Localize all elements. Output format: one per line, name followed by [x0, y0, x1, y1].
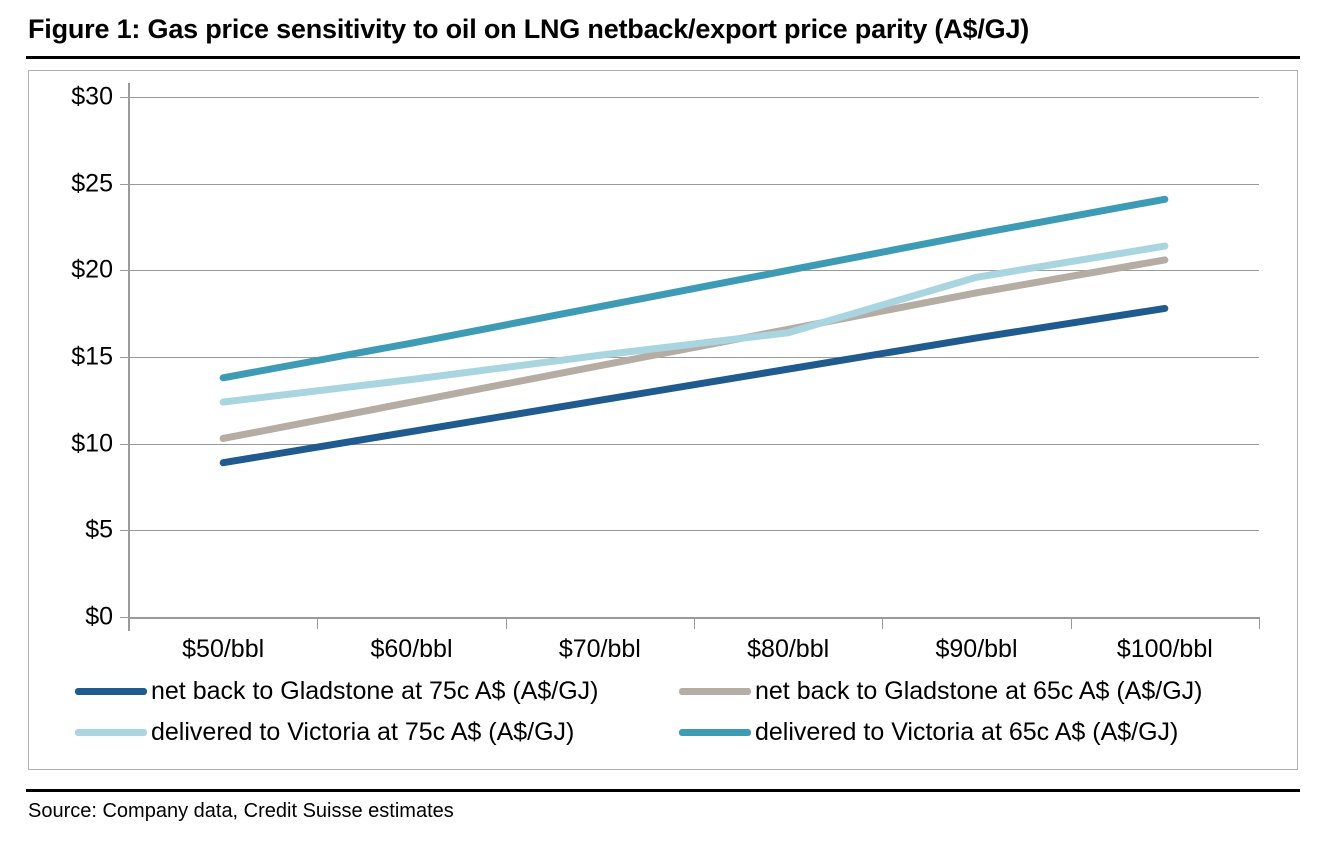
- legend-color-swatch: [679, 688, 751, 695]
- x-axis-tick-label: $90/bbl: [935, 635, 1017, 664]
- source-divider: [26, 789, 1300, 792]
- series-line: [223, 246, 1165, 402]
- legend-color-swatch: [75, 688, 147, 695]
- chart-frame: $30$25$20$15$10$5$0 $50/bbl$60/bbl$70/bb…: [28, 70, 1298, 770]
- x-axis-tick-label: $100/bbl: [1117, 635, 1213, 664]
- x-axis-tick-label: $80/bbl: [747, 635, 829, 664]
- x-axis-tick: [317, 617, 318, 629]
- x-axis-tick-label: $60/bbl: [370, 635, 452, 664]
- source-note: Source: Company data, Credit Suisse esti…: [28, 800, 454, 823]
- legend-color-swatch: [75, 729, 147, 736]
- x-axis-tick-label: $70/bbl: [559, 635, 641, 664]
- y-axis-tick-label: $10: [71, 429, 113, 458]
- chart-legend: net back to Gladstone at 75c A$ (A$/GJ)n…: [75, 671, 1265, 753]
- y-axis-tick: [120, 357, 129, 358]
- y-axis-tick-label: $20: [71, 256, 113, 285]
- x-axis-tick: [1071, 617, 1072, 629]
- y-axis-tick-label: $30: [71, 83, 113, 112]
- y-axis-tick: [120, 184, 129, 185]
- legend-label: net back to Gladstone at 65c A$ (A$/GJ): [755, 677, 1202, 706]
- title-divider: [26, 56, 1300, 59]
- y-axis-tick-label: $0: [85, 603, 113, 632]
- x-axis-tick: [882, 617, 883, 629]
- figure-title: Figure 1: Gas price sensitivity to oil o…: [28, 14, 1300, 45]
- x-axis-tick: [129, 617, 130, 629]
- x-axis-tick: [506, 617, 507, 629]
- series-lines: [129, 97, 1259, 617]
- legend-label: net back to Gladstone at 75c A$ (A$/GJ): [151, 677, 598, 706]
- legend-item[interactable]: delivered to Victoria at 75c A$ (A$/GJ): [75, 718, 679, 747]
- legend-item[interactable]: net back to Gladstone at 65c A$ (A$/GJ): [679, 677, 1265, 706]
- y-axis-tick: [120, 97, 129, 98]
- y-axis-tick: [120, 444, 129, 445]
- plot-area: $30$25$20$15$10$5$0 $50/bbl$60/bbl$70/bb…: [129, 97, 1259, 617]
- y-axis-tick-label: $15: [71, 343, 113, 372]
- x-axis-tick: [694, 617, 695, 629]
- legend-item[interactable]: net back to Gladstone at 75c A$ (A$/GJ): [75, 677, 679, 706]
- legend-item[interactable]: delivered to Victoria at 65c A$ (A$/GJ): [679, 718, 1265, 747]
- x-axis-tick: [1259, 617, 1260, 629]
- y-axis-tick: [120, 270, 129, 271]
- x-axis-tick-label: $50/bbl: [182, 635, 264, 664]
- y-axis-tick-label: $25: [71, 169, 113, 198]
- legend-label: delivered to Victoria at 65c A$ (A$/GJ): [755, 718, 1178, 747]
- y-axis-tick-label: $5: [85, 516, 113, 545]
- y-axis-tick: [120, 617, 129, 618]
- y-axis-tick: [120, 530, 129, 531]
- figure-container: Figure 1: Gas price sensitivity to oil o…: [0, 0, 1323, 842]
- legend-color-swatch: [679, 729, 751, 736]
- legend-label: delivered to Victoria at 75c A$ (A$/GJ): [151, 718, 574, 747]
